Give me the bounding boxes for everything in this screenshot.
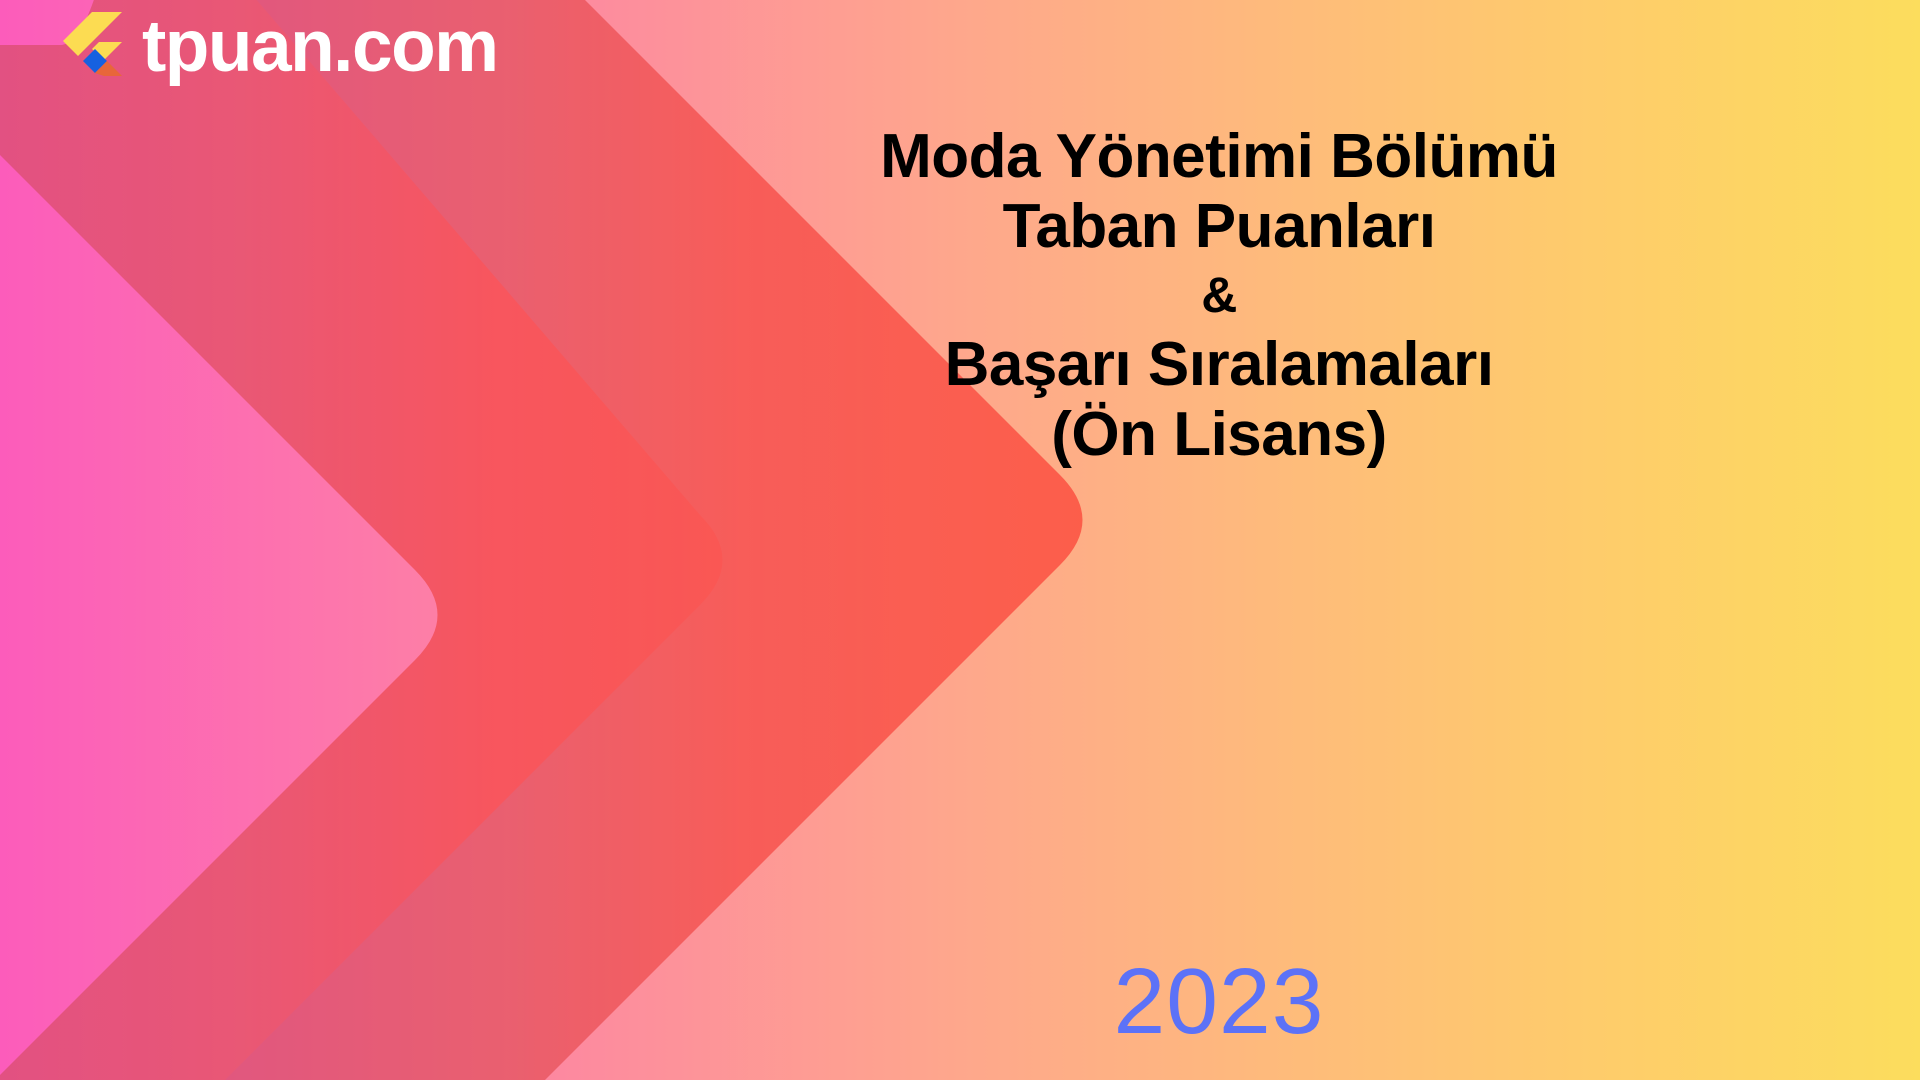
- title-line-5: (Ön Lisans): [590, 400, 1848, 470]
- brand-logo[interactable]: tpuan.com: [52, 8, 498, 88]
- brand-logo-text: tpuan.com: [142, 10, 498, 87]
- title-line-1: Moda Yönetimi Bölümü: [590, 122, 1848, 192]
- title-line-4: Başarı Sıralamaları: [590, 330, 1848, 400]
- title-line-2: Taban Puanları: [590, 192, 1848, 262]
- year-label: 2023: [590, 955, 1848, 1048]
- poster-canvas: tpuan.com Moda Yönetimi Bölümü Taban Pua…: [0, 0, 1920, 1080]
- title-line-ampersand: &: [590, 262, 1848, 330]
- flutter-chevron-logo-icon: [52, 8, 126, 88]
- page-title: Moda Yönetimi Bölümü Taban Puanları & Ba…: [590, 122, 1848, 470]
